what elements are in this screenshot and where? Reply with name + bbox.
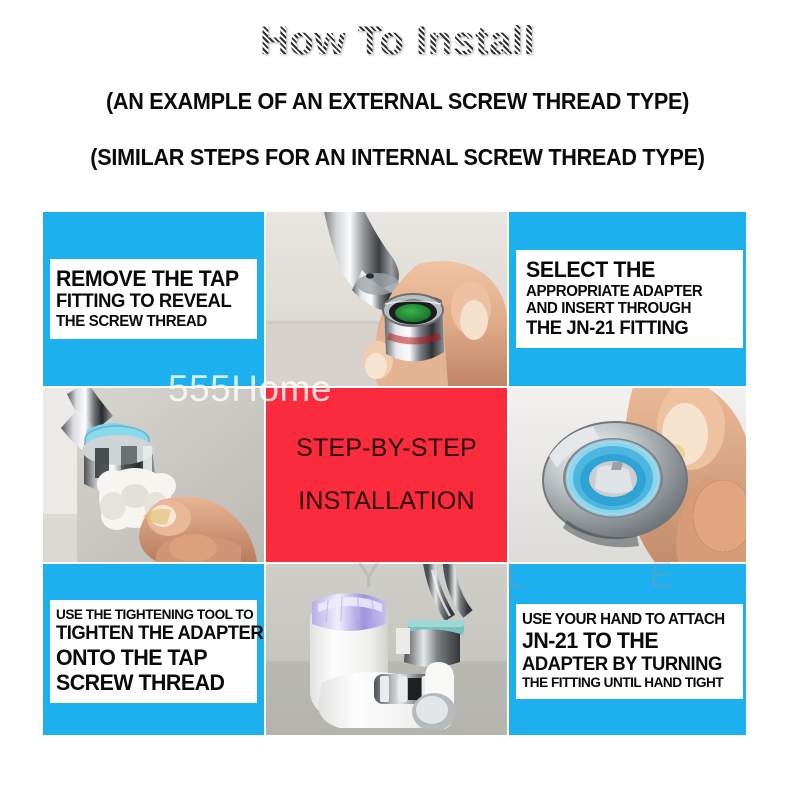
subtitle-external-thread: (AN EXAMPLE OF AN EXTERNAL SCREW THREAD … [24, 88, 771, 115]
step-line: USE YOUR HAND TO ATTACH [522, 611, 730, 629]
step-line: ONTO THE TAP [56, 645, 246, 670]
step-line: AND INSERT THROUGH [526, 300, 730, 318]
step-line: SCREW THREAD [56, 670, 246, 695]
step-line: REMOVE THE TAP [56, 266, 246, 291]
photo-panel-aerator-in-hand [266, 212, 507, 386]
water-filter-on-tap-photo [266, 564, 507, 735]
photo-panel-tightening-tool [43, 388, 264, 562]
blue-adapter-fitting-photo [509, 388, 746, 562]
step-panel-select-adapter: SELECT THE APPROPRIATE ADAPTER AND INSER… [509, 212, 746, 386]
step-line: THE SCREW THREAD [56, 313, 246, 331]
tightening-tool-photo [43, 388, 264, 562]
step-panel-step-by-step-installation: STEP-BY-STEP INSTALLATION [266, 388, 507, 562]
step-line: TIGHTEN THE ADAPTER [56, 623, 246, 645]
step-text-box: SELECT THE APPROPRIATE ADAPTER AND INSER… [516, 250, 743, 347]
install-steps-grid: REMOVE THE TAP FITTING TO REVEAL THE SCR… [43, 212, 746, 735]
step-panel-attach-jn21: USE YOUR HAND TO ATTACH JN-21 TO THE ADA… [509, 564, 746, 735]
step-line: THE JN-21 FITTING [526, 318, 730, 340]
step-panel-remove-tap-fitting: REMOVE THE TAP FITTING TO REVEAL THE SCR… [43, 212, 264, 386]
step-line: FITTING TO REVEAL [56, 291, 246, 313]
step-line: JN-21 TO THE [522, 628, 730, 653]
photo-panel-filter-installed [266, 564, 507, 735]
red-panel-line: STEP-BY-STEP [296, 436, 477, 461]
photo-panel-adapter-insert [509, 388, 746, 562]
header: How To Install (AN EXAMPLE OF AN EXTERNA… [0, 0, 795, 171]
step-line: APPROPRIATE ADAPTER [526, 283, 730, 301]
subtitle-internal-thread: (SIMILAR STEPS FOR AN INTERNAL SCREW THR… [24, 144, 771, 171]
page-title: How To Install [260, 18, 535, 64]
red-panel-line: INSTALLATION [298, 489, 475, 514]
faucet-aerator-photo [266, 212, 507, 386]
step-text-box: REMOVE THE TAP FITTING TO REVEAL THE SCR… [50, 259, 258, 338]
step-panel-tighten-adapter: USE THE TIGHTENING TOOL TO TIGHTEN THE A… [43, 564, 264, 735]
step-text-box: USE THE TIGHTENING TOOL TO TIGHTEN THE A… [50, 600, 258, 703]
step-text-box: USE YOUR HAND TO ATTACH JN-21 TO THE ADA… [516, 604, 743, 699]
step-line: ADAPTER BY TURNING [522, 654, 730, 676]
step-line: USE THE TIGHTENING TOOL TO [56, 607, 246, 623]
step-line: SELECT THE [526, 257, 730, 282]
step-line: THE FITTING UNTIL HAND TIGHT [522, 675, 730, 691]
